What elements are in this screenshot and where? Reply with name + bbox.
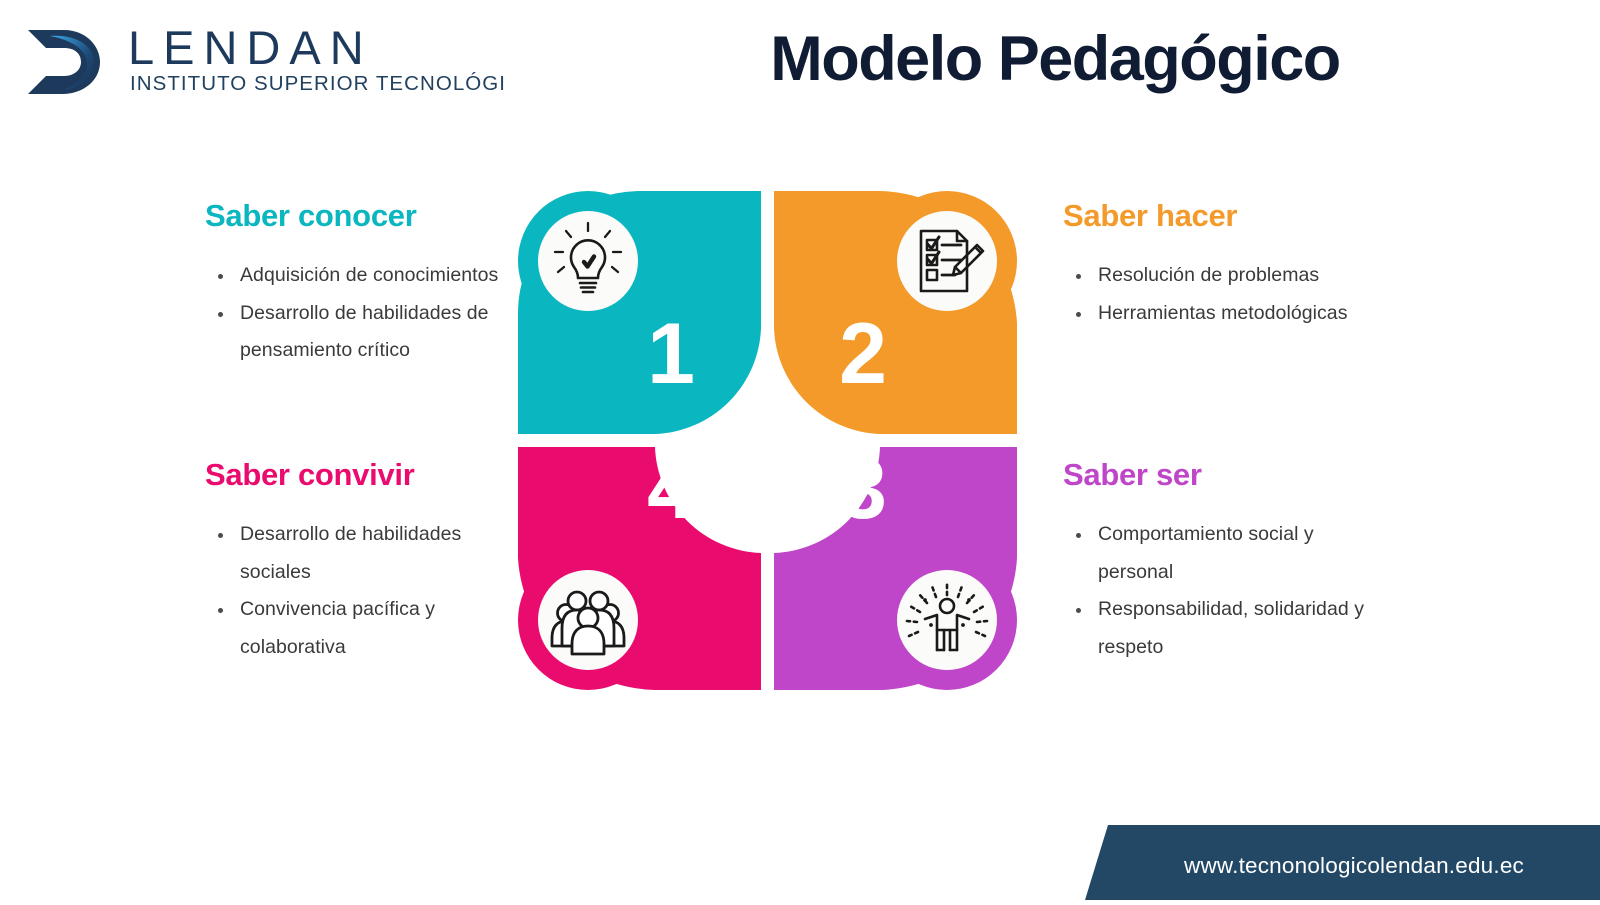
bullet-item: Resolución de problemas <box>1063 257 1393 295</box>
petal-quadrant-1[interactable]: 1 <box>518 191 761 434</box>
quadrant-bullets-4: Desarrollo de habilidades sociales Convi… <box>205 516 535 667</box>
bullet-item: Comportamiento social y personal <box>1063 516 1393 591</box>
bullet-item: Responsabilidad, solidaridad y respeto <box>1063 591 1393 666</box>
bullet-dot-icon <box>218 608 223 613</box>
bullet-item: Desarrollo de habilidades de pensamiento… <box>205 295 535 370</box>
quadrant-title-3: Saber ser <box>1063 459 1393 490</box>
footer-website-url[interactable]: www.tecnonologicolendan.edu.ec <box>1184 853 1524 879</box>
svg-text:INSTITUTO SUPERIOR TECNOLÓGICO: INSTITUTO SUPERIOR TECNOLÓGICO <box>130 72 504 95</box>
bullet-text: Comportamiento social y personal <box>1098 523 1314 583</box>
svg-text:LENDAN: LENDAN <box>128 22 373 74</box>
petal-diagram: 1 <box>505 178 1030 703</box>
bullet-text: Desarrollo de habilidades de pensamiento… <box>240 302 489 362</box>
quadrant-text-saber-conocer: Saber conocer Adquisición de conocimient… <box>205 200 535 370</box>
bullet-dot-icon <box>218 533 223 538</box>
bullet-text: Convivencia pacífica y colaborativa <box>240 598 435 658</box>
petal-number-3: 3 <box>839 441 887 537</box>
quadrant-bullets-1: Adquisición de conocimientos Desarrollo … <box>205 257 535 370</box>
bullet-dot-icon <box>218 274 223 279</box>
bullet-dot-icon <box>1076 608 1081 613</box>
petal-quadrant-2[interactable]: 2 <box>774 191 1017 434</box>
bullet-text: Adquisición de conocimientos <box>240 264 498 286</box>
bullet-dot-icon <box>1076 533 1081 538</box>
petal-number-1: 1 <box>647 306 695 402</box>
bullet-dot-icon <box>1076 312 1081 317</box>
infographic-canvas: LENDAN INSTITUTO SUPERIOR TECNOLÓGICO Mo… <box>0 0 1600 900</box>
bullet-item: Convivencia pacífica y colaborativa <box>205 591 535 666</box>
bullet-text: Desarrollo de habilidades sociales <box>240 523 461 583</box>
logo-mark <box>28 30 100 94</box>
bullet-dot-icon <box>1076 274 1081 279</box>
quadrant-text-saber-convivir: Saber convivir Desarrollo de habilidades… <box>205 459 535 667</box>
bullet-text: Responsabilidad, solidaridad y respeto <box>1098 598 1364 658</box>
quadrant-title-4: Saber convivir <box>205 459 535 490</box>
quadrant-title-2: Saber hacer <box>1063 200 1393 231</box>
bullet-item: Adquisición de conocimientos <box>205 257 535 295</box>
quadrant-title-1: Saber conocer <box>205 200 535 231</box>
bullet-text: Resolución de problemas <box>1098 264 1319 286</box>
petal-quadrant-3[interactable]: 3 <box>774 441 1017 690</box>
petal-number-4: 4 <box>647 441 695 537</box>
bullet-item: Desarrollo de habilidades sociales <box>205 516 535 591</box>
petal-quadrant-4[interactable]: 4 <box>518 441 761 690</box>
quadrant-bullets-2: Resolución de problemas Herramientas met… <box>1063 257 1393 332</box>
logo-tagline: INSTITUTO SUPERIOR TECNOLÓGICO <box>130 72 504 95</box>
page-title: Modelo Pedagógico <box>660 26 1450 92</box>
quadrant-bullets-3: Comportamiento social y personal Respons… <box>1063 516 1393 667</box>
petal-number-2: 2 <box>839 306 887 402</box>
logo-wordmark: LENDAN <box>128 22 373 74</box>
bullet-text: Herramientas metodológicas <box>1098 302 1348 324</box>
lendan-logo: LENDAN INSTITUTO SUPERIOR TECNOLÓGICO <box>24 22 504 98</box>
quadrant-text-saber-hacer: Saber hacer Resolución de problemas Herr… <box>1063 200 1393 332</box>
bullet-item: Herramientas metodológicas <box>1063 295 1393 333</box>
quadrant-text-saber-ser: Saber ser Comportamiento social y person… <box>1063 459 1393 667</box>
bullet-dot-icon <box>218 312 223 317</box>
